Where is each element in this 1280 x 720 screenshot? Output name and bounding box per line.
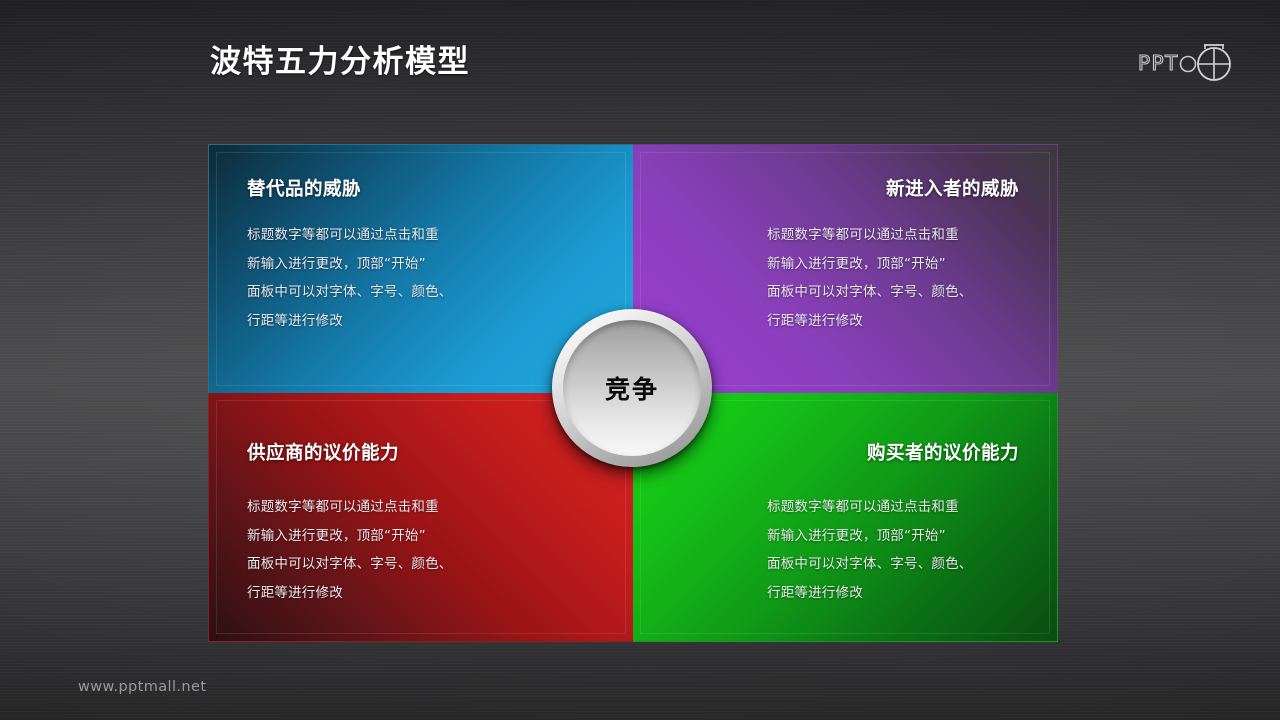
pptmall-logo-icon: PPT <box>1138 36 1238 88</box>
quadrant-body: 标题数字等都可以通过点击和重 新输入进行更改，顶部“开始” 面板中可以对字体、字… <box>767 221 1019 335</box>
body-line: 行距等进行修改 <box>767 313 863 329</box>
quadrant-body: 标题数字等都可以通过点击和重 新输入进行更改，顶部“开始” 面板中可以对字体、字… <box>247 493 595 607</box>
body-line: 面板中可以对字体、字号、颜色、 <box>247 556 453 572</box>
quadrant-content: 供应商的议价能力 标题数字等都可以通过点击和重 新输入进行更改，顶部“开始” 面… <box>247 423 595 607</box>
body-line: 新输入进行更改，顶部“开始” <box>767 256 946 272</box>
center-node-sphere: 竞争 <box>563 320 701 456</box>
page-title: 波特五力分析模型 <box>210 36 470 81</box>
quadrant-content: 购买者的议价能力 标题数字等都可以通过点击和重 新输入进行更改，顶部“开始” 面… <box>671 423 1019 607</box>
body-line: 新输入进行更改，顶部“开始” <box>247 256 426 272</box>
body-line: 标题数字等都可以通过点击和重 <box>247 499 439 515</box>
center-node-label: 竞争 <box>605 370 659 406</box>
body-line: 面板中可以对字体、字号、颜色、 <box>247 284 453 300</box>
quadrant-body: 标题数字等都可以通过点击和重 新输入进行更改，顶部“开始” 面板中可以对字体、字… <box>247 221 595 335</box>
quadrant-title: 替代品的威胁 <box>247 175 595 201</box>
body-line: 新输入进行更改，顶部“开始” <box>767 528 946 544</box>
quadrant-body: 标题数字等都可以通过点击和重 新输入进行更改，顶部“开始” 面板中可以对字体、字… <box>767 493 1019 607</box>
brand-logo: PPT <box>1138 36 1238 88</box>
body-line: 面板中可以对字体、字号、颜色、 <box>767 284 973 300</box>
quadrant-title: 购买者的议价能力 <box>767 439 1019 465</box>
body-line: 标题数字等都可以通过点击和重 <box>767 499 959 515</box>
svg-text:PPT: PPT <box>1138 51 1179 75</box>
body-line: 行距等进行修改 <box>247 313 343 329</box>
quadrant-content: 替代品的威胁 标题数字等都可以通过点击和重 新输入进行更改，顶部“开始” 面板中… <box>247 175 595 335</box>
body-line: 标题数字等都可以通过点击和重 <box>247 227 439 243</box>
body-line: 行距等进行修改 <box>247 585 343 601</box>
body-line: 面板中可以对字体、字号、颜色、 <box>767 556 973 572</box>
body-line: 标题数字等都可以通过点击和重 <box>767 227 959 243</box>
body-line: 行距等进行修改 <box>767 585 863 601</box>
quadrant-title: 新进入者的威胁 <box>767 175 1019 201</box>
quadrant-title: 供应商的议价能力 <box>247 439 595 465</box>
body-line: 新输入进行更改，顶部“开始” <box>247 528 426 544</box>
center-competition-node[interactable]: 竞争 <box>552 309 712 467</box>
quadrant-content: 新进入者的威胁 标题数字等都可以通过点击和重 新输入进行更改，顶部“开始” 面板… <box>671 175 1019 335</box>
footer-url: www.pptmall.net <box>78 679 206 695</box>
